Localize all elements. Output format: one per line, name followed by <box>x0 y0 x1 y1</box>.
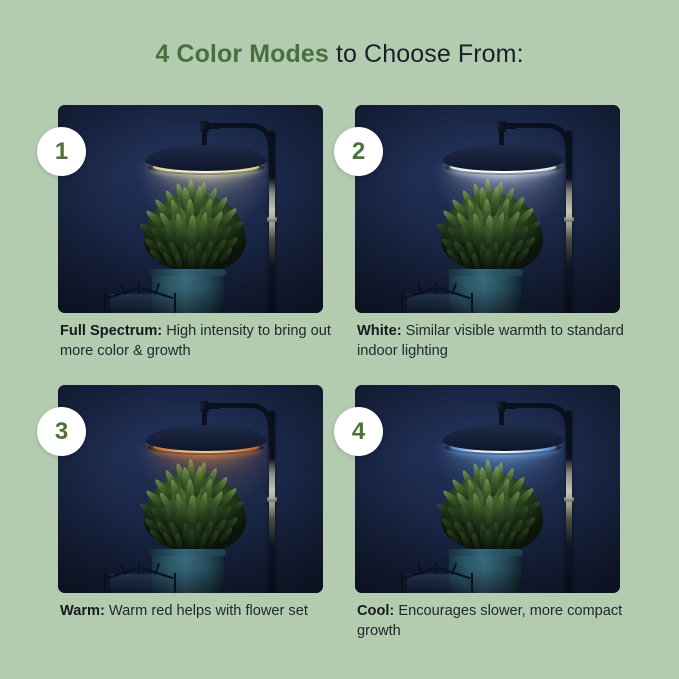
mode-card-2: 2 White: Similar visible warmth to stand… <box>355 105 620 313</box>
mode-photo-1 <box>58 105 323 313</box>
mode-badge-2: 2 <box>334 127 383 176</box>
photo-vignette <box>58 105 323 313</box>
page-title-rest: to Choose From: <box>329 40 524 68</box>
mode-card-3: 3 Warm: Warm red helps with flower set <box>58 385 323 593</box>
mode-badge-3: 3 <box>37 407 86 456</box>
photo-vignette <box>355 105 620 313</box>
mode-card-1: 1 Full Spectrum: High intensity to bring… <box>58 105 323 313</box>
photo-vignette <box>355 385 620 593</box>
mode-card-4: 4 Cool: Encourages slower, more compact … <box>355 385 620 593</box>
infographic-page: 4 Color Modes to Choose From: <box>0 0 679 679</box>
mode-photo-4 <box>355 385 620 593</box>
mode-title-2: White: <box>357 323 402 339</box>
mode-badge-1: 1 <box>37 127 86 176</box>
mode-caption-2: White: Similar visible warmth to standar… <box>357 321 629 361</box>
page-title: 4 Color Modes to Choose From: <box>0 40 679 69</box>
page-title-accent: 4 Color Modes <box>155 40 329 68</box>
mode-caption-1: Full Spectrum: High intensity to bring o… <box>60 321 332 361</box>
mode-title-1: Full Spectrum: <box>60 323 162 339</box>
photo-vignette <box>58 385 323 593</box>
mode-caption-3: Warm: Warm red helps with flower set <box>60 601 332 621</box>
mode-photo-3 <box>58 385 323 593</box>
mode-title-4: Cool: <box>357 603 394 619</box>
mode-title-3: Warm: <box>60 603 105 619</box>
mode-badge-4: 4 <box>334 407 383 456</box>
mode-description-3: Warm red helps with flower set <box>105 603 308 619</box>
mode-caption-4: Cool: Encourages slower, more compact gr… <box>357 601 629 641</box>
mode-photo-2 <box>355 105 620 313</box>
mode-description-4: Encourages slower, more compact growth <box>357 603 622 639</box>
